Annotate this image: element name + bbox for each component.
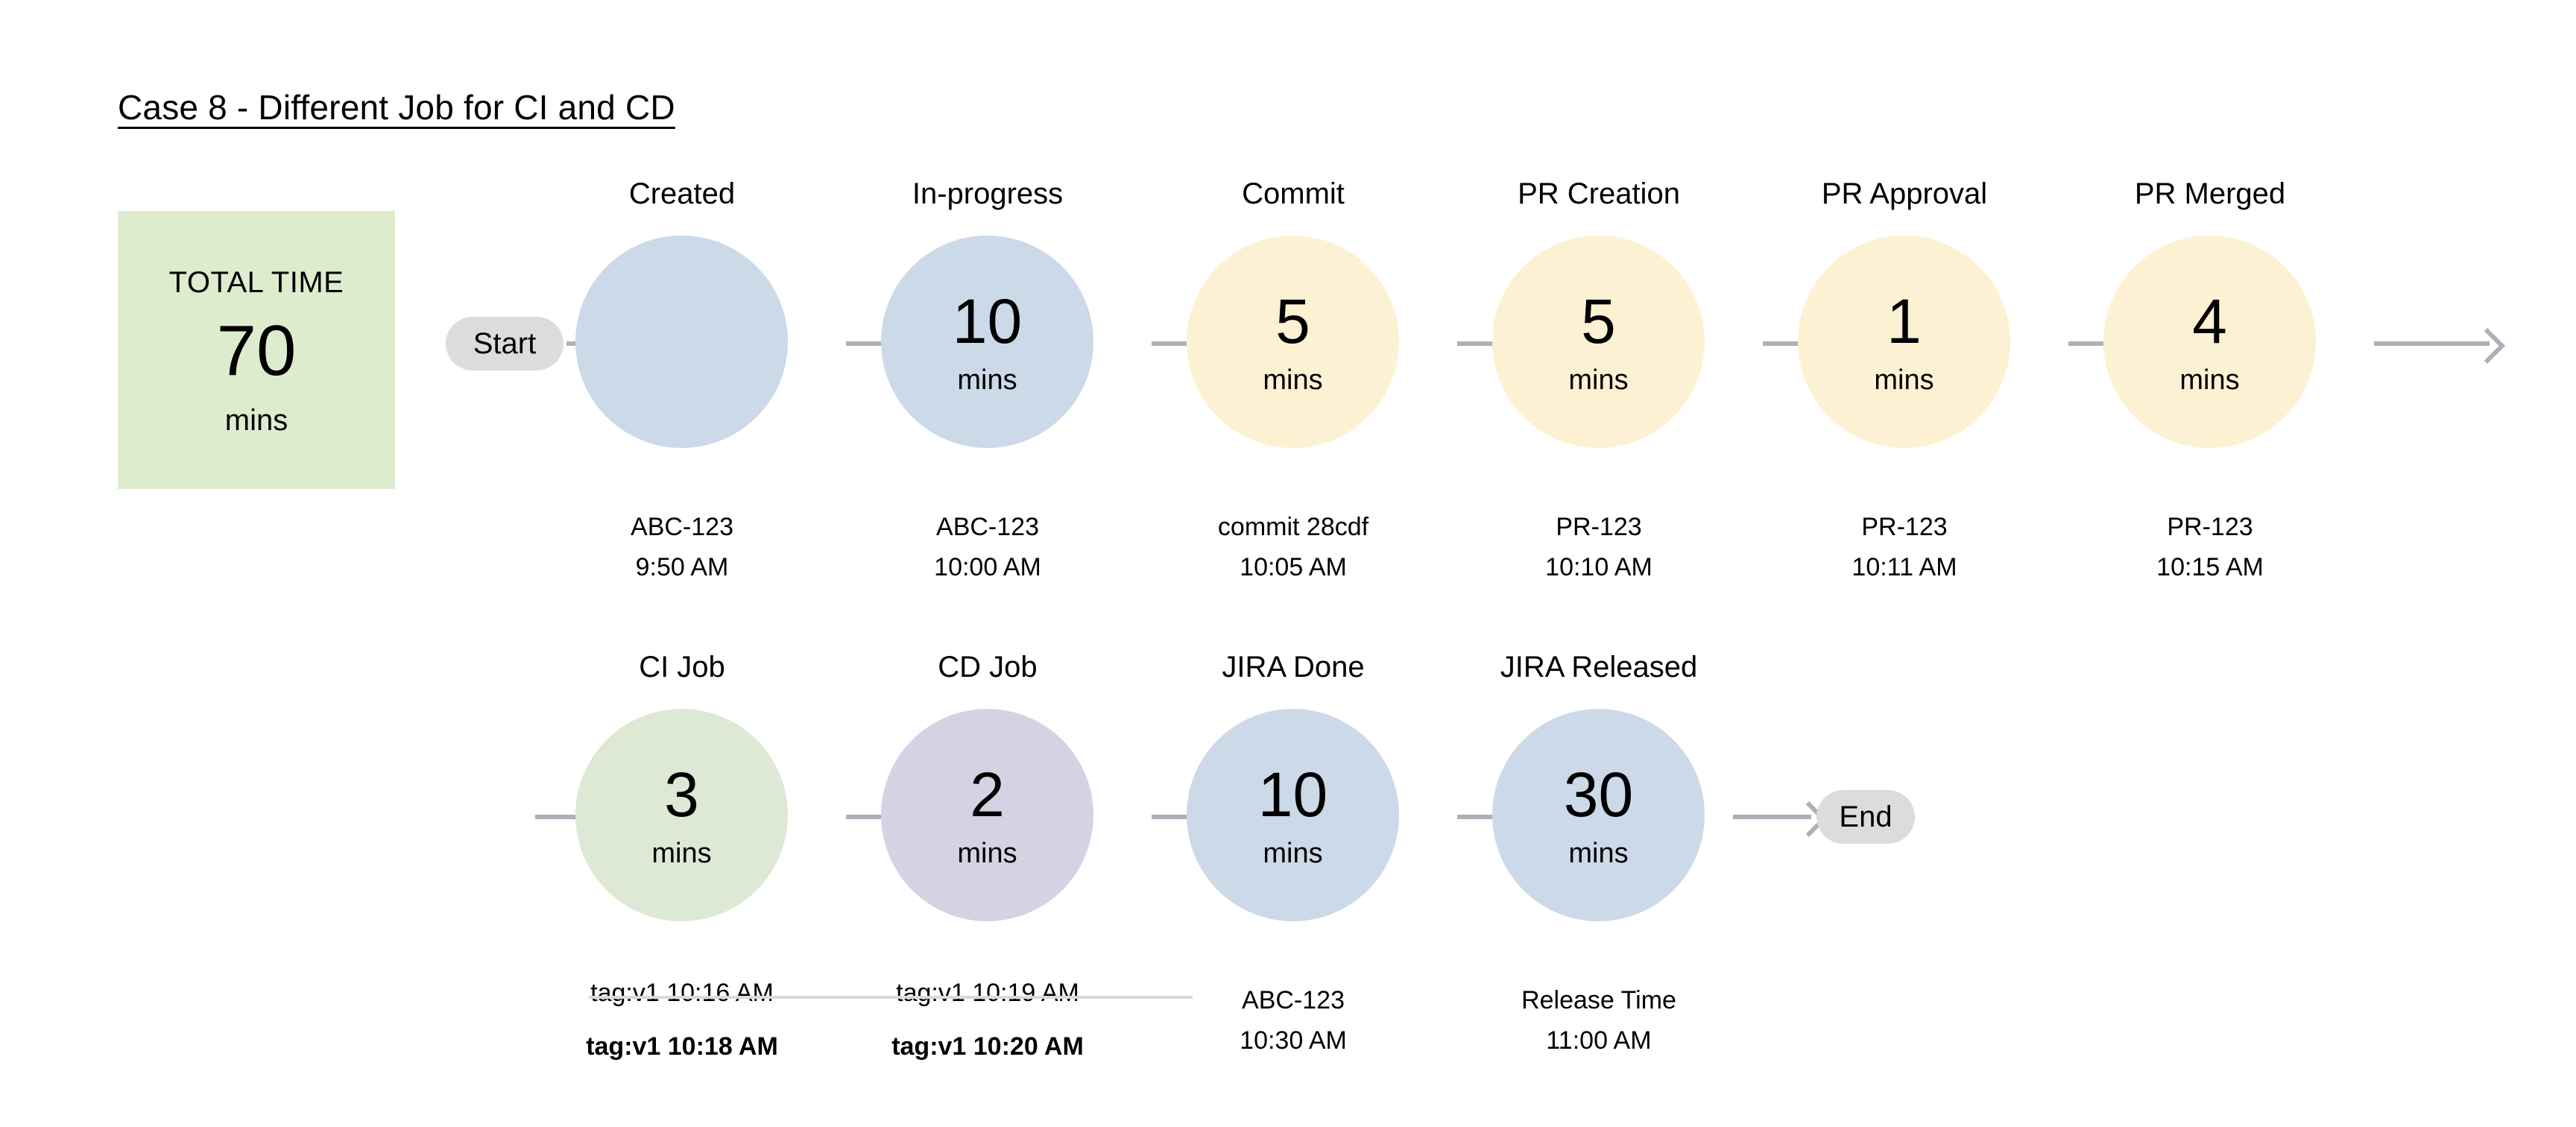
- node-pr-approval-value: 1: [1887, 290, 1922, 353]
- total-time-unit: mins: [225, 405, 288, 435]
- node-created-caption-primary: ABC-123: [544, 514, 820, 540]
- node-pr-merged-unit: mins: [2179, 366, 2239, 394]
- node-pr-merged-caption-secondary: 10:15 AM: [2072, 555, 2348, 580]
- caption-divider: [589, 996, 1193, 999]
- node-pr-merged-circle[interactable]: 4 mins: [2103, 236, 2316, 448]
- node-pr-approval-circle[interactable]: 1 mins: [1798, 236, 2010, 448]
- node-commit-circle[interactable]: 5 mins: [1187, 236, 1399, 448]
- node-commit-caption-secondary: 10:05 AM: [1155, 555, 1431, 580]
- node-pr-approval-unit: mins: [1874, 366, 1933, 394]
- node-cd-job-title: CD Job: [865, 652, 1111, 682]
- node-in-progress-caption-primary: ABC-123: [850, 514, 1126, 540]
- node-pr-creation-circle[interactable]: 5 mins: [1492, 236, 1705, 448]
- diagram-canvas: Case 8 - Different Job for CI and CD TOT…: [0, 0, 2576, 1127]
- node-ci-job-caption-primary: tag:v1 10:16 AM: [544, 980, 820, 1006]
- node-ci-job-caption-secondary: tag:v1 10:18 AM: [544, 1034, 820, 1059]
- node-in-progress-value: 10: [953, 290, 1022, 353]
- node-commit-title: Commit: [1170, 179, 1416, 209]
- node-pr-merged-value: 4: [2192, 290, 2227, 353]
- node-jira-released-unit: mins: [1568, 839, 1628, 868]
- node-commit-caption-primary: commit 28cdf: [1155, 514, 1431, 540]
- node-jira-released-value: 30: [1564, 763, 1633, 826]
- node-created-circle[interactable]: [575, 236, 788, 448]
- node-ci-job-value: 3: [664, 763, 699, 826]
- node-jira-done-value: 10: [1258, 763, 1328, 826]
- total-time-value: 70: [217, 314, 297, 389]
- node-ci-job-title: CI Job: [559, 652, 805, 682]
- node-ci-job-unit: mins: [651, 839, 711, 868]
- node-pr-creation-caption-primary: PR-123: [1461, 514, 1737, 540]
- node-jira-done-circle[interactable]: 10 mins: [1187, 709, 1399, 921]
- node-pr-creation-value: 5: [1581, 290, 1616, 353]
- node-pr-approval-caption-secondary: 10:11 AM: [1767, 555, 2042, 580]
- node-jira-done-title: JIRA Done: [1170, 652, 1416, 682]
- node-jira-done-unit: mins: [1263, 839, 1322, 868]
- node-pr-approval-title: PR Approval: [1781, 179, 2027, 209]
- node-in-progress-caption-secondary: 10:00 AM: [850, 555, 1126, 580]
- node-created-title: Created: [559, 179, 805, 209]
- node-created-caption-secondary: 9:50 AM: [544, 555, 820, 580]
- node-pr-merged-caption-primary: PR-123: [2072, 514, 2348, 540]
- node-pr-creation-unit: mins: [1568, 366, 1628, 394]
- page-title: Case 8 - Different Job for CI and CD: [118, 87, 675, 127]
- node-ci-job-circle[interactable]: 3 mins: [575, 709, 788, 921]
- total-time-label: TOTAL TIME: [169, 268, 344, 297]
- node-jira-done-caption-primary: ABC-123: [1155, 988, 1431, 1013]
- node-in-progress-unit: mins: [957, 366, 1017, 394]
- end-terminal[interactable]: End: [1816, 790, 1915, 844]
- node-pr-creation-caption-secondary: 10:10 AM: [1461, 555, 1737, 580]
- node-jira-released-title: JIRA Released: [1476, 652, 1722, 682]
- node-jira-released-caption-primary: Release Time: [1461, 988, 1737, 1013]
- start-terminal-label: Start: [473, 327, 536, 361]
- node-cd-job-circle[interactable]: 2 mins: [881, 709, 1093, 921]
- node-jira-released-circle[interactable]: 30 mins: [1492, 709, 1705, 921]
- node-pr-merged-title: PR Merged: [2087, 179, 2333, 209]
- node-cd-job-unit: mins: [957, 839, 1017, 868]
- end-terminal-label: End: [1839, 801, 1892, 834]
- node-in-progress-circle[interactable]: 10 mins: [881, 236, 1093, 448]
- node-commit-value: 5: [1275, 290, 1310, 353]
- node-cd-job-caption-primary: tag:v1 10:19 AM: [850, 980, 1126, 1006]
- node-cd-job-caption-secondary: tag:v1 10:20 AM: [850, 1034, 1126, 1059]
- start-terminal[interactable]: Start: [446, 317, 563, 370]
- node-commit-unit: mins: [1263, 366, 1322, 394]
- node-pr-approval-caption-primary: PR-123: [1767, 514, 2042, 540]
- node-jira-released-caption-secondary: 11:00 AM: [1461, 1028, 1737, 1053]
- node-pr-creation-title: PR Creation: [1476, 179, 1722, 209]
- arrowhead-row1-exit: [2469, 328, 2505, 364]
- node-jira-done-caption-secondary: 10:30 AM: [1155, 1028, 1431, 1053]
- node-in-progress-title: In-progress: [865, 179, 1111, 209]
- total-time-box: TOTAL TIME 70 mins: [118, 211, 395, 489]
- node-cd-job-value: 2: [970, 763, 1005, 826]
